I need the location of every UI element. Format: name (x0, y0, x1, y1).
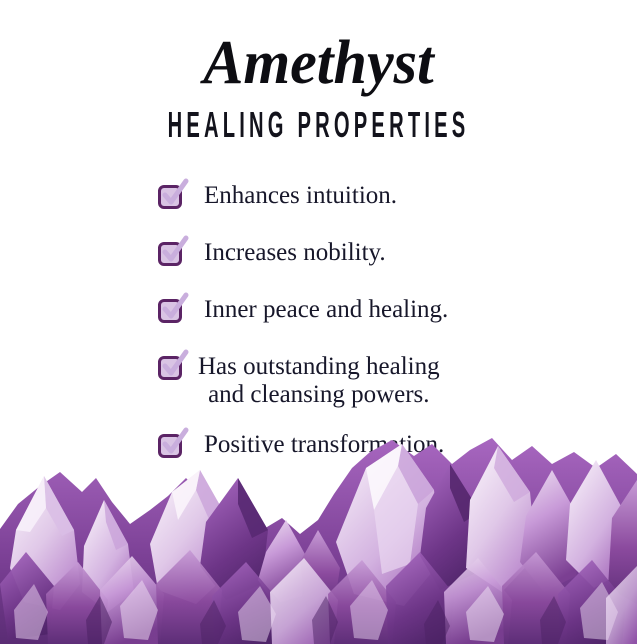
checked-checkbox-icon (158, 356, 182, 380)
list-item-label: Inner peace and healing. (182, 296, 448, 325)
title-block: Amethyst HEALING PROPERTIES (0, 32, 637, 143)
page-title: Amethyst (10, 32, 628, 95)
list-item: Increases nobility. (0, 239, 637, 269)
list-item: Enhances intuition. (0, 182, 637, 212)
list-item-label: Has outstanding healing and cleansing po… (182, 353, 440, 409)
list-item: Inner peace and healing. (0, 296, 637, 326)
amethyst-healing-properties-poster: Amethyst HEALING PROPERTIES Enhances int… (0, 0, 637, 644)
amethyst-crystal-cluster-photo (0, 434, 637, 644)
page-subtitle: HEALING PROPERTIES (140, 107, 497, 143)
checked-checkbox-icon (158, 185, 182, 209)
list-item-label: Increases nobility. (182, 239, 386, 268)
checked-checkbox-icon (158, 242, 182, 266)
list-item: Has outstanding healing and cleansing po… (0, 353, 637, 409)
checked-checkbox-icon (158, 299, 182, 323)
list-item-label: Enhances intuition. (182, 182, 397, 211)
